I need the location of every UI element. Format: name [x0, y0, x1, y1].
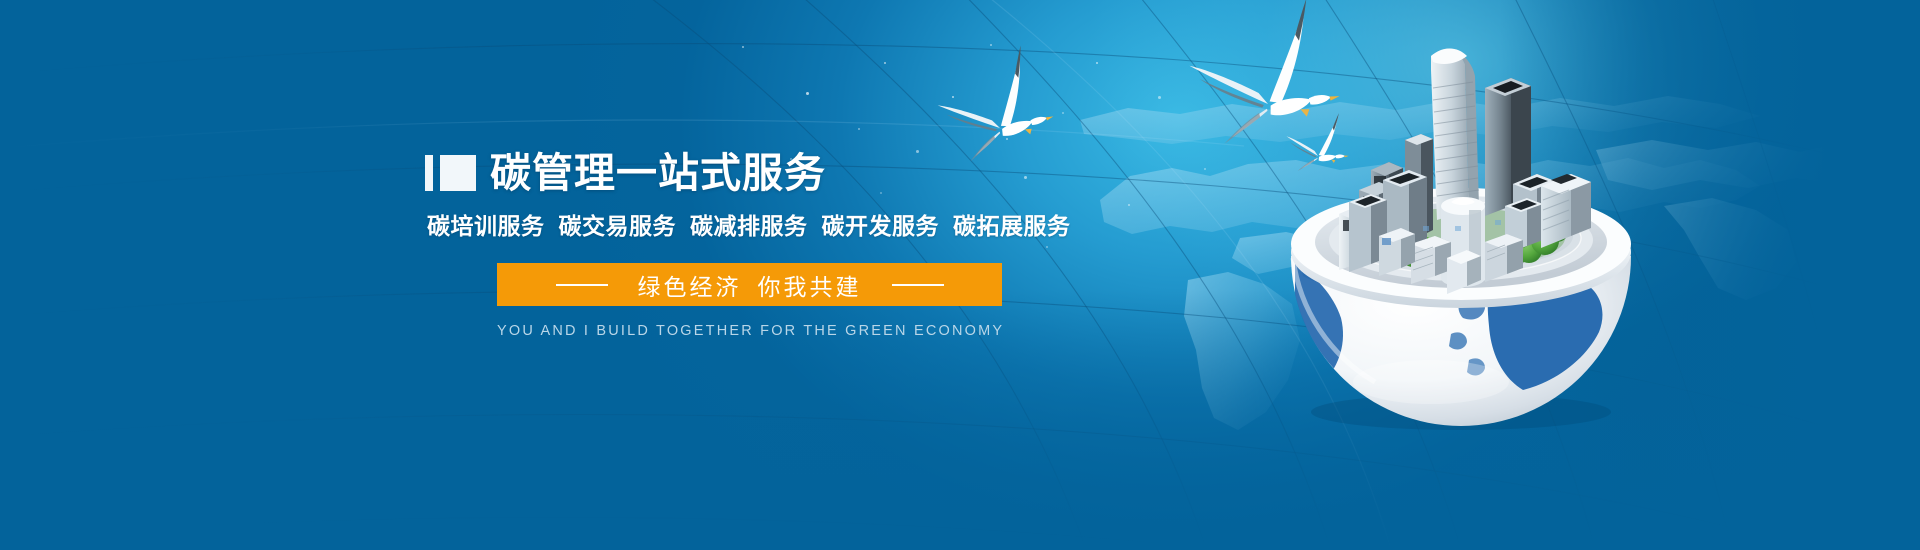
slogan-text-part-2: 你我共建 — [758, 274, 862, 300]
slogan-banner: 绿色经济你我共建 — [497, 263, 1002, 306]
promo-banner: 碳管理一站式服务 碳培训服务碳交易服务碳减排服务碳开发服务碳拓展服务 绿色经济你… — [0, 0, 1920, 550]
page-title: 碳管理一站式服务 — [490, 153, 826, 194]
service-item-4: 碳开发服务 — [822, 213, 940, 239]
service-item-2: 碳交易服务 — [559, 213, 677, 239]
slogan-text-part-1: 绿色经济 — [638, 274, 742, 300]
slogan-dash-right — [892, 284, 944, 286]
english-tagline: YOU AND I BUILD TOGETHER FOR THE GREEN E… — [497, 323, 1002, 339]
service-item-5: 碳拓展服务 — [953, 213, 1071, 239]
slogan-text: 绿色经济你我共建 — [638, 268, 862, 302]
service-list: 碳培训服务碳交易服务碳减排服务碳开发服务碳拓展服务 — [427, 207, 1045, 241]
earth-city-artwork — [1255, 30, 1675, 430]
banner-copy: 碳管理一站式服务 碳培训服务碳交易服务碳减排服务碳开发服务碳拓展服务 绿色经济你… — [425, 150, 1045, 339]
building-hero-tower — [1431, 49, 1479, 221]
headline-row: 碳管理一站式服务 — [425, 150, 1045, 196]
bar-square-mark-icon — [425, 155, 476, 191]
service-item-3: 碳减排服务 — [690, 213, 808, 239]
seagull-left — [928, 43, 1058, 165]
slogan-dash-left — [556, 284, 608, 286]
service-item-1: 碳培训服务 — [427, 213, 545, 239]
